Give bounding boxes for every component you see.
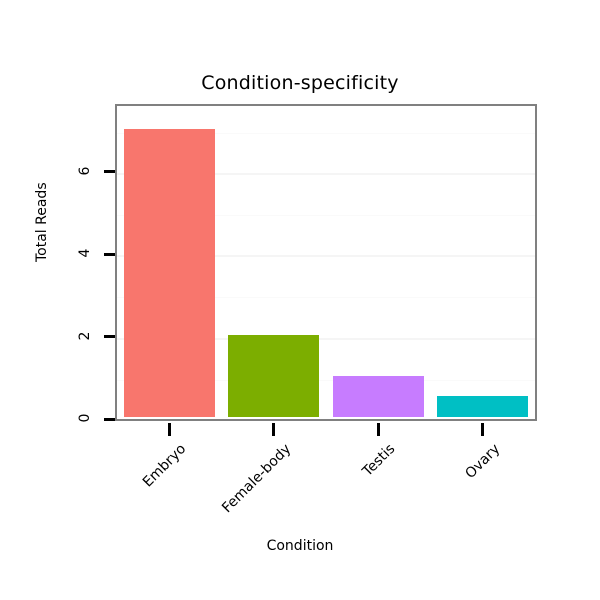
bar	[333, 376, 424, 417]
y-tick-label: 2	[77, 325, 93, 347]
x-tick-mark	[272, 423, 275, 436]
chart-title: Condition-specificity	[0, 72, 600, 94]
x-tick-mark	[481, 423, 484, 436]
y-tick-mark	[104, 418, 115, 421]
y-tick-mark	[104, 253, 115, 256]
x-tick-mark	[377, 423, 380, 436]
chart-root: Condition-specificity 0246 Total Reads E…	[0, 0, 600, 600]
plot-area	[117, 106, 535, 419]
x-tick-mark	[168, 423, 171, 436]
y-tick-mark	[104, 335, 115, 338]
y-tick-label: 6	[77, 160, 93, 182]
y-tick-label: 4	[77, 242, 93, 264]
bar	[228, 335, 319, 417]
plot-panel	[115, 104, 537, 421]
y-axis-title: Total Reads	[34, 182, 50, 262]
y-tick-mark	[104, 170, 115, 173]
gridline-major	[117, 420, 535, 421]
y-tick-label: 0	[77, 407, 93, 429]
x-axis-title: Condition	[0, 538, 600, 554]
bar	[124, 129, 215, 417]
bar	[437, 396, 528, 417]
